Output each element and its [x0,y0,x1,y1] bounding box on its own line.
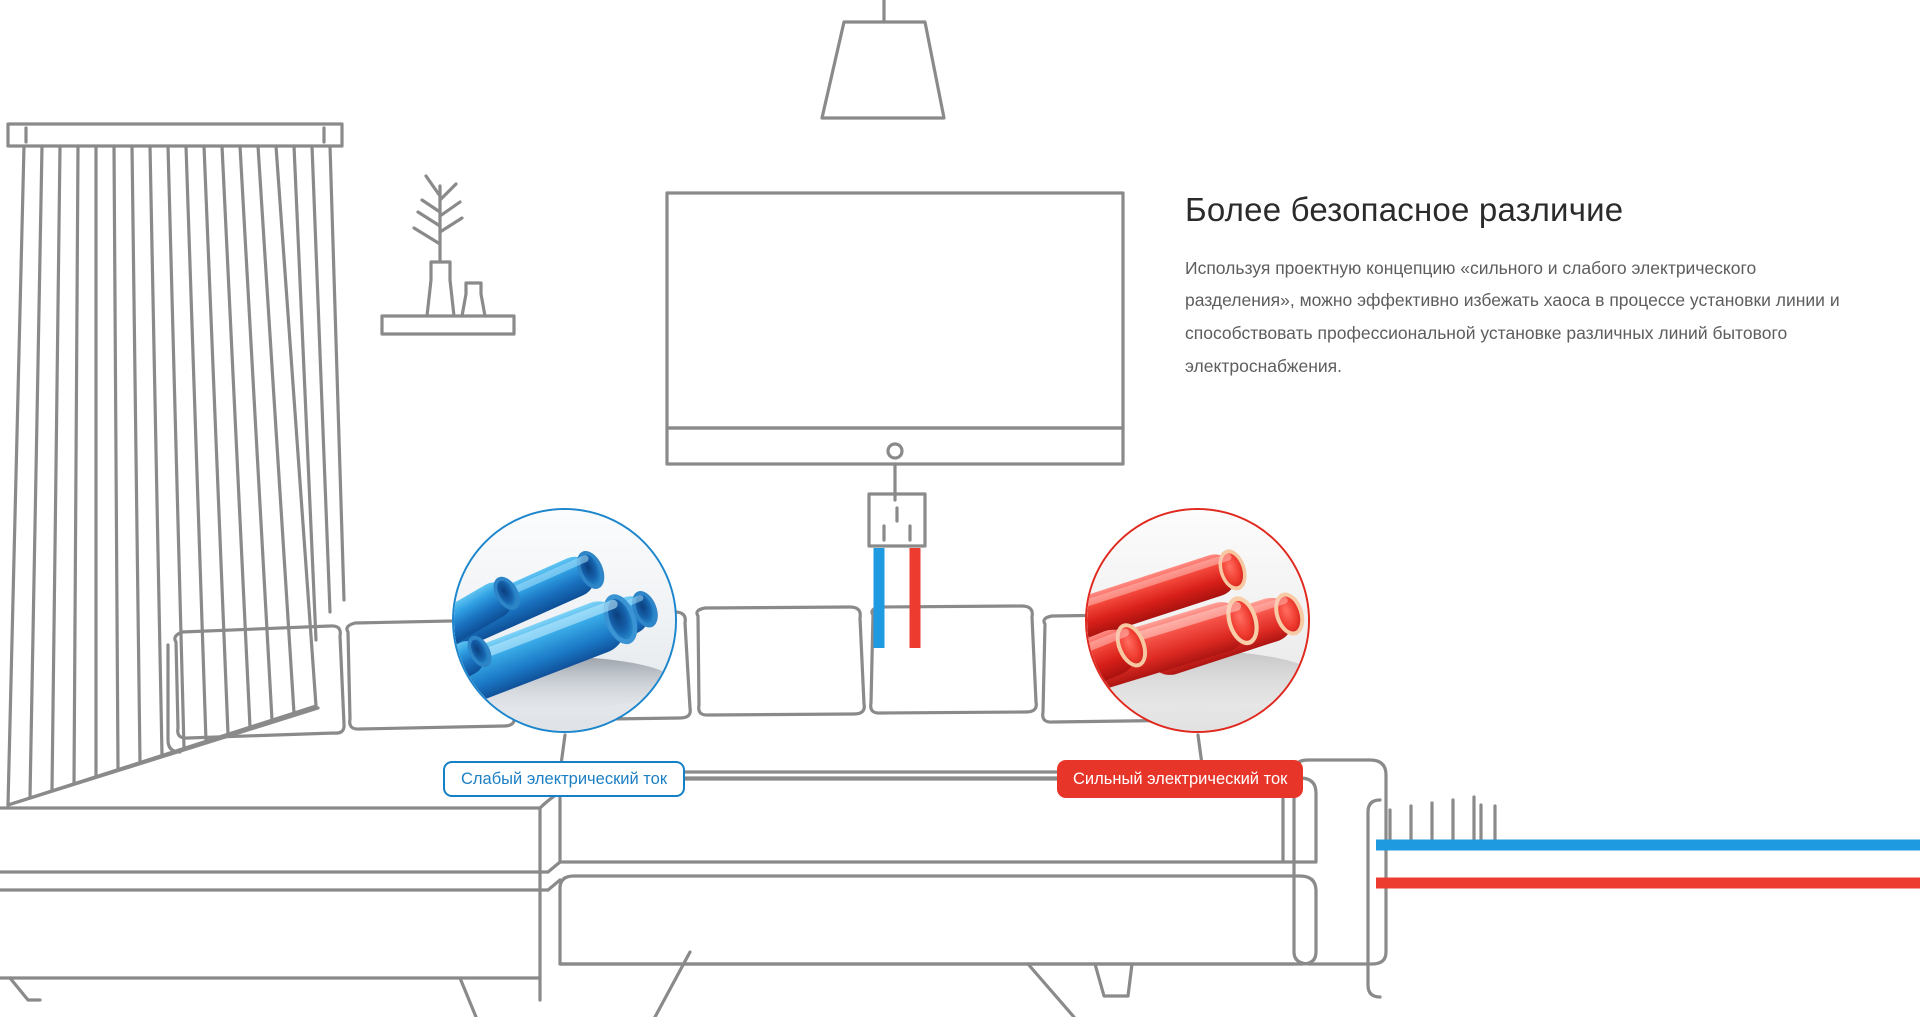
panel-body-text: Используя проектную концепцию «сильного … [1185,252,1853,384]
red-conduit-pipes-photo [1087,510,1308,731]
cable-group [879,548,1920,883]
strong-current-photo-callout[interactable] [1085,508,1310,733]
room-line-art [0,0,1920,1017]
wall-socket-icon [869,494,925,546]
shelf-with-vases-icon [382,176,514,334]
weak-current-photo-callout[interactable] [452,508,677,733]
strong-current-label[interactable]: Сильный электрический ток [1057,760,1303,798]
illustration-canvas: Слабый электрический ток Сильный электри… [0,0,1920,1017]
panel-title: Более безопасное различие [1185,190,1865,230]
pendant-lamp-icon [822,0,944,118]
description-panel: Более безопасное различие Используя прое… [1185,190,1865,383]
television-icon [667,193,1123,500]
blue-conduit-pipes-photo [454,510,675,731]
weak-current-label[interactable]: Слабый электрический ток [443,761,685,797]
